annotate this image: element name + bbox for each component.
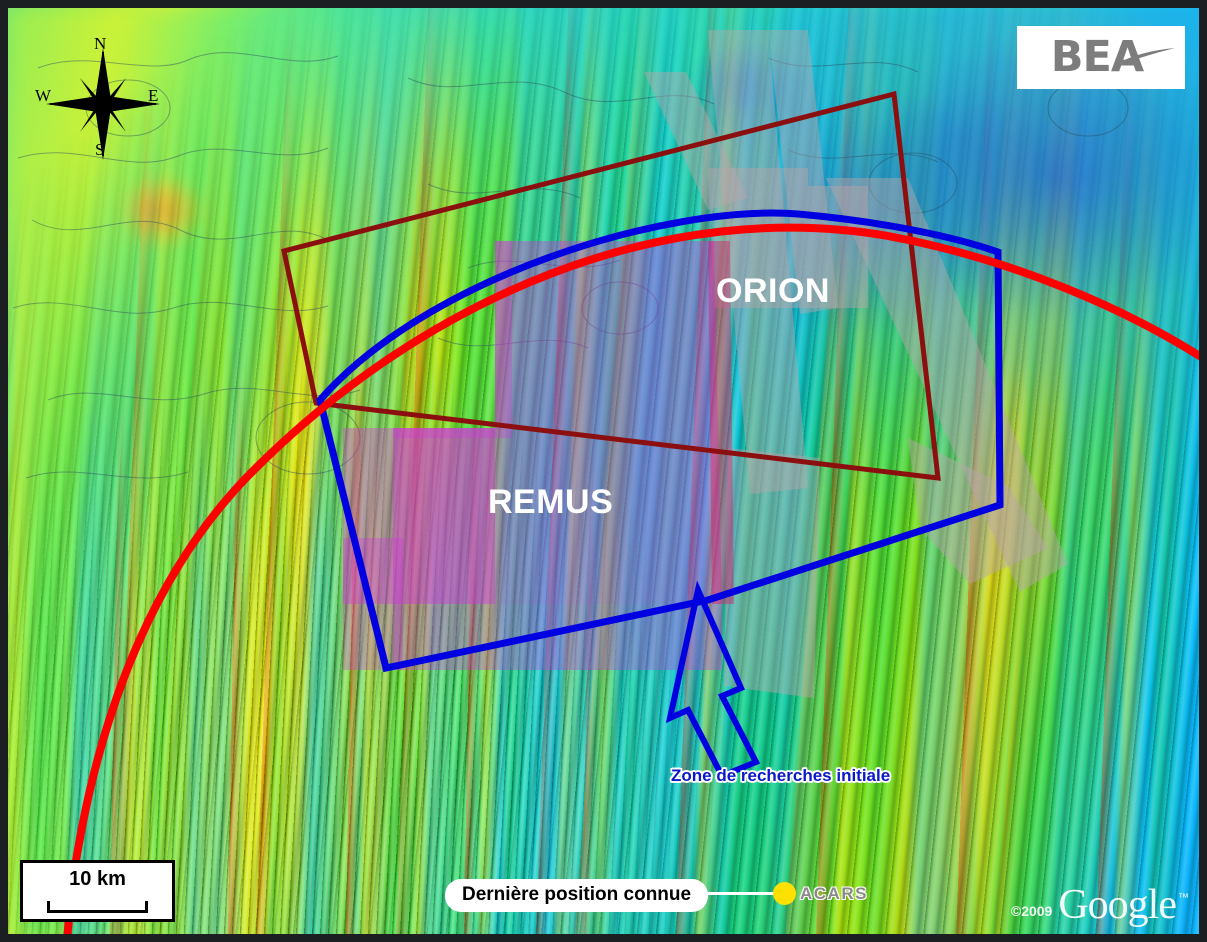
trademark-symbol: ™ — [1178, 892, 1189, 926]
compass-label-east: E — [148, 86, 158, 106]
map-canvas[interactable]: N S W E ORION REMUS Zone de recherches i… — [0, 0, 1207, 942]
copyright-label: ©2009 — [1011, 903, 1052, 926]
compass-label-west: W — [35, 86, 51, 106]
compass-rose: N S W E — [34, 34, 166, 162]
scale-bar-rule — [47, 901, 148, 913]
remus-tile-east-strip — [708, 241, 734, 604]
google-attribution: ©2009 Google ™ — [1011, 886, 1189, 926]
remus-tile-northwest — [393, 241, 512, 438]
annotation-search-zone: Zone de recherches initiale — [671, 766, 890, 786]
compass-label-north: N — [94, 34, 106, 54]
compass-label-south: S — [95, 140, 104, 160]
bea-swoosh-icon — [1115, 46, 1177, 68]
sonar-swath-block-south — [724, 448, 820, 698]
remus-tile-south — [393, 604, 722, 670]
bea-logo: BEA — [1017, 26, 1185, 89]
legend-connector-line — [700, 892, 782, 895]
legend-last-known-position: Dernière position connue — [445, 879, 708, 912]
map-vector-overlay — [8, 8, 1207, 942]
scale-bar-label: 10 km — [23, 868, 172, 891]
legend-acars-label: ACARS — [800, 884, 868, 904]
google-wordmark: Google — [1058, 886, 1176, 926]
acars-position-marker — [773, 882, 796, 905]
scale-bar: 10 km — [20, 860, 175, 922]
